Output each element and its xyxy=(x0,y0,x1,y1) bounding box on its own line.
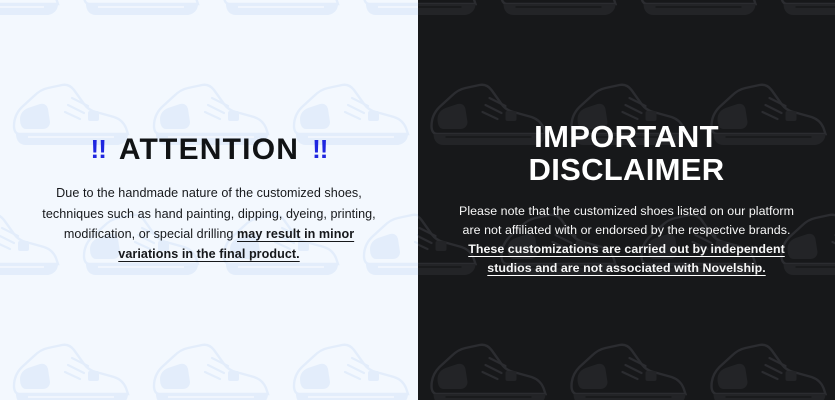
double-exclamation-right-icon: !! xyxy=(312,136,327,162)
disclaimer-panel: IMPORTANT DISCLAIMER Please note that th… xyxy=(418,0,835,400)
disclaimer-banner: !! ATTENTION !! Due to the handmade natu… xyxy=(0,0,835,400)
disclaimer-body-plain: Please note that the customized shoes li… xyxy=(459,204,794,237)
disclaimer-body: Please note that the customized shoes li… xyxy=(452,202,801,279)
attention-content: !! ATTENTION !! Due to the handmade natu… xyxy=(0,135,418,265)
attention-heading: !! ATTENTION !! xyxy=(34,135,384,165)
disclaimer-heading-line-1: IMPORTANT xyxy=(452,121,801,153)
disclaimer-content: IMPORTANT DISCLAIMER Please note that th… xyxy=(418,121,835,278)
attention-heading-text: ATTENTION xyxy=(119,135,299,165)
attention-panel: !! ATTENTION !! Due to the handmade natu… xyxy=(0,0,418,400)
attention-body: Due to the handmade nature of the custom… xyxy=(34,183,384,265)
double-exclamation-left-icon: !! xyxy=(91,136,106,162)
disclaimer-body-emphasis: These customizations are carried out by … xyxy=(468,242,785,275)
disclaimer-heading: IMPORTANT DISCLAIMER xyxy=(452,121,801,185)
disclaimer-heading-line-2: DISCLAIMER xyxy=(452,154,801,186)
